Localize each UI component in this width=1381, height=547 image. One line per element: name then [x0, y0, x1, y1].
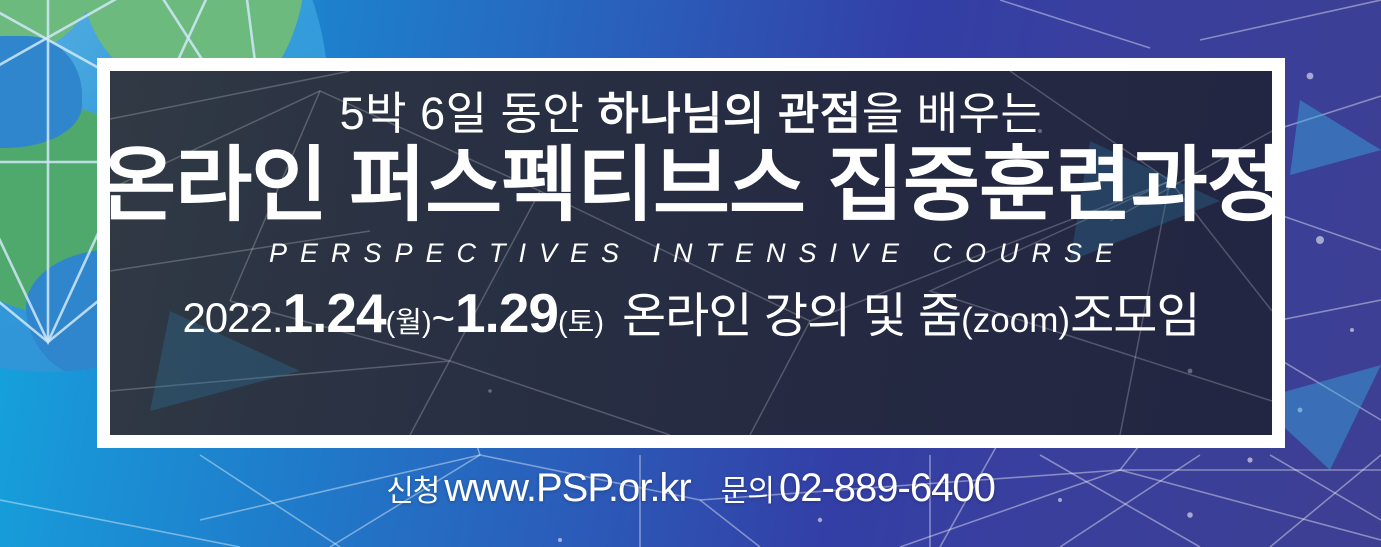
- main-title-korean: 온라인 퍼스펙티브스 집중훈련과정: [110, 145, 1272, 227]
- apply-url[interactable]: www.PSP.or.kr: [444, 466, 690, 510]
- inquiry-phone[interactable]: 02-889-6400: [779, 466, 995, 510]
- promotional-banner: 5박 6일 동안 하나님의 관점을 배우는 온라인 퍼스펙티브스 집중훈련과정 …: [0, 0, 1381, 547]
- mode-after: 조모임: [1070, 290, 1199, 343]
- subtitle-line: 5박 6일 동안 하나님의 관점을 배우는: [110, 91, 1272, 136]
- date-end: 1.29: [455, 282, 558, 344]
- subtitle-highlight: 하나님의 관점: [597, 88, 861, 139]
- subtitle-before: 5박 6일 동안: [340, 88, 598, 139]
- mode-zoom-label: (zoom): [961, 301, 1070, 340]
- date-and-mode-line: 2022.1.24(월)~1.29(토)온라인 강의 및 줌(zoom)조모임: [110, 286, 1272, 341]
- panel-copy: 5박 6일 동안 하나님의 관점을 배우는 온라인 퍼스펙티브스 집중훈련과정 …: [110, 71, 1272, 435]
- apply-label: 신청: [386, 475, 439, 508]
- inquiry-label: 문의: [721, 475, 774, 508]
- date-year: 2022.: [182, 294, 282, 341]
- date-start-dow: (월): [386, 307, 432, 339]
- white-frame-border: 5박 6일 동안 하나님의 관점을 배우는 온라인 퍼스펙티브스 집중훈련과정 …: [97, 58, 1285, 448]
- main-title-english: PERSPECTIVES INTENSIVE COURSE: [110, 240, 1272, 267]
- mode-before: 온라인 강의 및 줌: [622, 290, 961, 343]
- subtitle-after: 을 배우는: [862, 88, 1043, 139]
- date-separator: ~: [432, 297, 455, 341]
- contact-row: 신청www.PSP.or.kr문의02-889-6400: [0, 468, 1381, 508]
- date-start: 1.24: [283, 282, 386, 344]
- dark-content-panel: 5박 6일 동안 하나님의 관점을 배우는 온라인 퍼스펙티브스 집중훈련과정 …: [110, 71, 1272, 435]
- date-end-dow: (토): [558, 307, 604, 339]
